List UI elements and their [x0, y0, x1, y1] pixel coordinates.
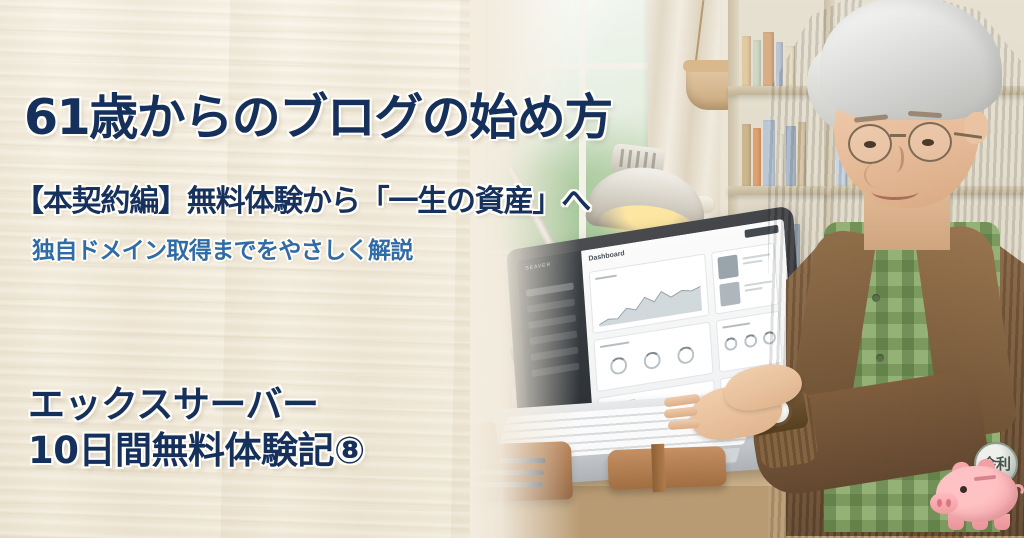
mouth-smile: [872, 184, 918, 200]
gauge-icon: [677, 345, 695, 365]
book: [753, 128, 761, 186]
gauge-icon: [643, 351, 661, 371]
headline: 61歳からのブログの始め方: [24, 78, 612, 149]
ear: [964, 112, 988, 144]
brand-line-2: 10日間無料体験記⑧: [28, 420, 365, 474]
eye-left: [864, 141, 876, 148]
eyeglass-bridge: [890, 134, 906, 137]
subtitle: 【本契約編】無料体験から「一生の資産」へ: [14, 176, 590, 220]
hair: [820, 0, 1002, 120]
shirt-button: [872, 294, 880, 302]
book: [742, 124, 751, 186]
banner-image: SEAVER Dashboard: [0, 0, 1024, 538]
book: [742, 36, 751, 86]
pouch-strap: [651, 444, 666, 492]
eye-right: [922, 139, 934, 146]
gauge-icon: [724, 337, 738, 352]
shirt-button: [876, 354, 884, 362]
gauge-icon: [744, 333, 758, 348]
book: [753, 40, 761, 86]
pig-eye: [960, 486, 967, 493]
subtitle-second: 独自ドメイン取得までをやさしく解説: [32, 231, 413, 265]
pig-snout: [930, 492, 958, 514]
headline-text-layer: 61歳からのブログの始め方 【本契約編】無料体験から「一生の資産」へ 独自ドメイ…: [0, 0, 640, 538]
piggy-bank: 金利: [930, 440, 1024, 538]
